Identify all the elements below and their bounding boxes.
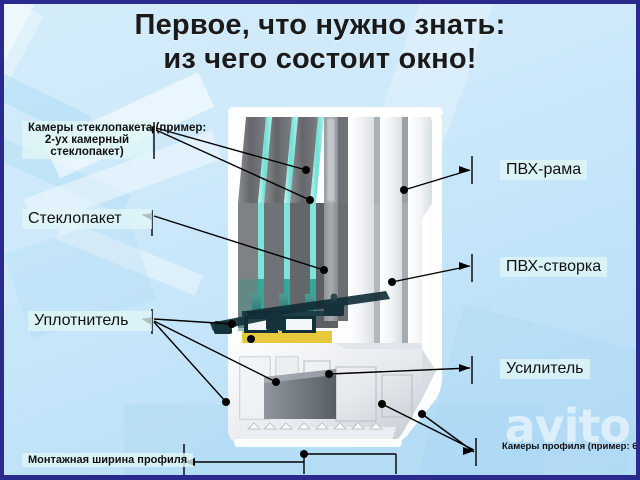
label-mounting-width-text: Монтажная ширина профиля [28, 454, 187, 466]
label-reinforcement-text: Усилитель [506, 360, 584, 377]
label-mounting-width[interactable]: Монтажная ширина профиля [22, 453, 193, 467]
label-glass-unit[interactable]: Стеклопакет [22, 209, 152, 229]
label-glass-unit-text: Стеклопакет [28, 210, 122, 227]
label-chambers-glass-text: Камеры стеклопакета [28, 122, 152, 134]
label-profile-chambers-sub: (пример: 6-ти камерный профиль) [588, 441, 636, 452]
label-pvc-sash-text: ПВХ-створка [506, 258, 601, 275]
label-pvc-sash[interactable]: ПВХ-створка [500, 257, 607, 277]
label-profile-chambers[interactable]: Камеры профиля (пример: 6-ти камерный пр… [496, 440, 636, 453]
label-seal-text: Уплотнитель [34, 312, 128, 329]
label-reinforcement[interactable]: Усилитель [500, 359, 590, 379]
callout-leader-lines [4, 4, 636, 475]
poster-root: Первое, что нужно знать: из чего состоит… [0, 0, 640, 480]
leader-end-dots [222, 166, 426, 458]
label-pvc-frame[interactable]: ПВХ-рама [500, 160, 587, 180]
poster-canvas: Первое, что нужно знать: из чего состоит… [4, 4, 636, 475]
label-chambers-glass[interactable]: Камеры стеклопакета (пример: 2-ух камерн… [22, 121, 152, 159]
label-seal[interactable]: Уплотнитель [28, 311, 152, 331]
label-pvc-frame-text: ПВХ-рама [506, 161, 581, 178]
label-profile-chambers-text: Камеры профиля [502, 441, 585, 452]
